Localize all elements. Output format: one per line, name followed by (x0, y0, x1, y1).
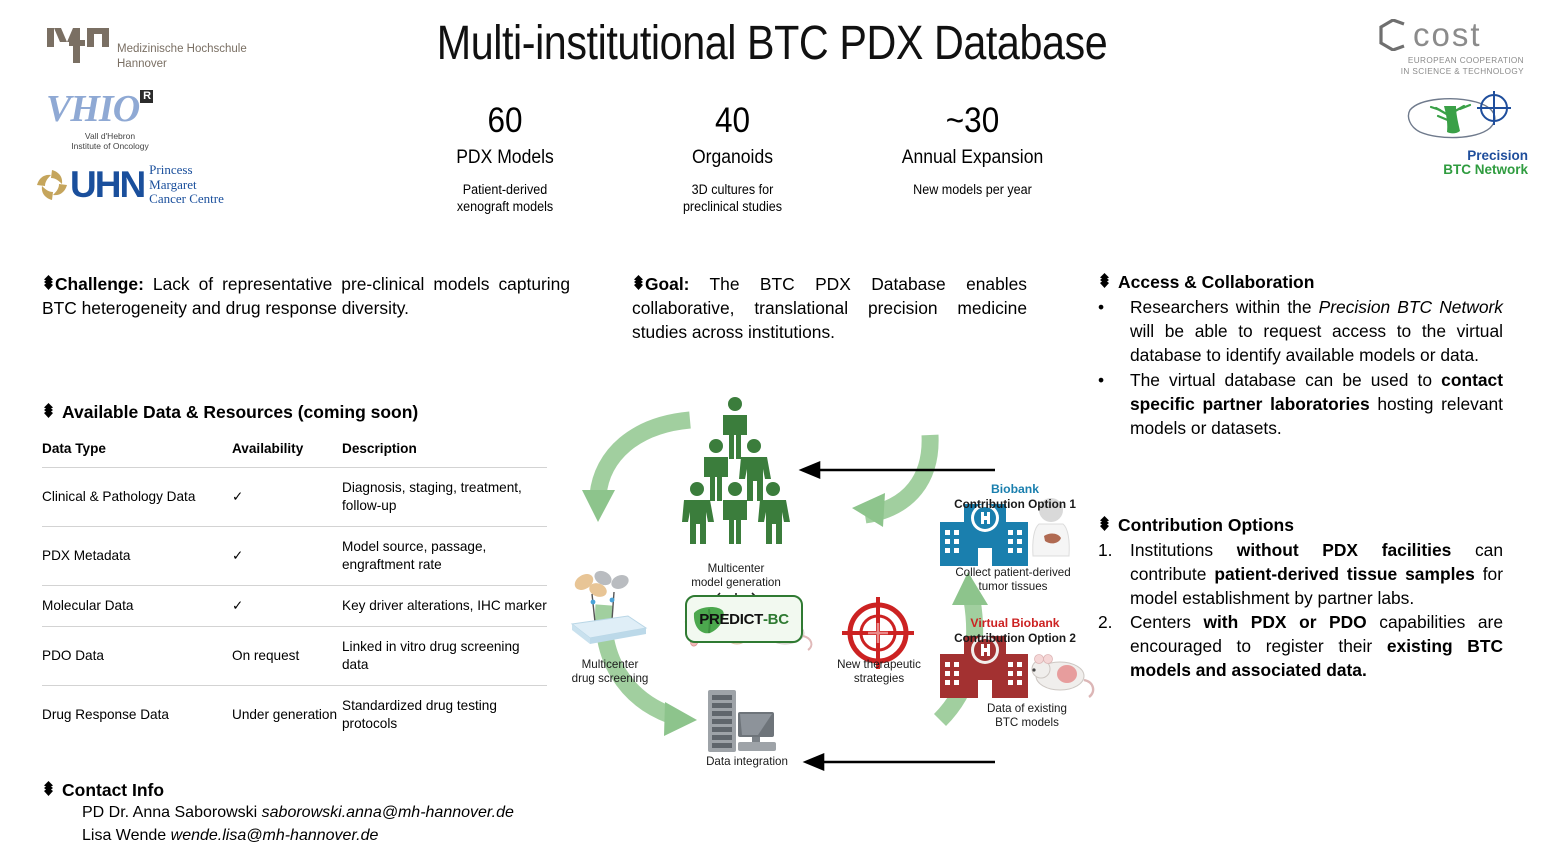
list-item-text: Researchers within the Precision BTC Net… (1130, 297, 1503, 365)
page-title: Multi-institutional BTC PDX Database (108, 16, 1436, 71)
poster-root: Medizinische Hochschule Hannover VHIOR V… (0, 0, 1544, 863)
list-item-text: Institutions without PDX facilities can … (1130, 540, 1503, 608)
cell-availability: On request (232, 626, 342, 685)
biobank-hospital-icon (940, 504, 1028, 566)
cell-description: Model source, passage, engraftment rate (342, 526, 547, 585)
virtual-biobank-title: Virtual Biobank (925, 616, 1105, 631)
list-marker: 1. (1098, 538, 1113, 562)
cell-availability: Under generation (232, 685, 342, 743)
list-item: 2. Centers with PDX or PDO capabilities … (1098, 610, 1503, 682)
table-row: Molecular Data ✓ Key driver alterations,… (42, 585, 547, 626)
cell-data-type: PDX Metadata (42, 526, 232, 585)
uhn-swirl-icon (34, 167, 70, 203)
contact-email[interactable]: saborowski.anna@mh-hannover.de (262, 804, 514, 821)
logo-uhn: UHN Princess Margaret Cancer Centre (34, 163, 249, 215)
node-label-line1: Data integration (682, 755, 812, 769)
diagram-canvas (540, 390, 1100, 810)
biobank-caption: Collect patient-derived tumor tissues (918, 566, 1108, 595)
virtual-biobank-subtitle: Contribution Option 2 (925, 631, 1105, 646)
list-item: • The virtual database can be used to co… (1098, 368, 1503, 440)
logo-uhn-mark: UHN (70, 166, 144, 203)
node-label-model-generation: Multicenter model generation (666, 562, 806, 591)
biobank-subtitle: Contribution Option 1 (925, 497, 1105, 512)
contribution-options-section: Contribution Options 1. Institutions wit… (1098, 515, 1503, 682)
table-row: Clinical & Pathology Data ✓ Diagnosis, s… (42, 468, 547, 527)
predict-bc-text-bc: -BC (763, 611, 789, 628)
table-header-row: Data Type Availability Description (42, 441, 547, 468)
available-data-heading-text: Available Data & Resources (coming soon) (62, 402, 418, 423)
table-row: PDX Metadata ✓ Model source, passage, en… (42, 526, 547, 585)
challenge-lead: Challenge: (55, 274, 144, 294)
access-collaboration-section: Access & Collaboration • Researchers wit… (1098, 272, 1503, 441)
logo-btc-text: Precision BTC Network (1398, 149, 1528, 177)
node-label-line1: New therapeutic (818, 658, 940, 672)
diamond-bullet-icon (42, 275, 55, 290)
available-data-table: Data Type Availability Description Clini… (42, 441, 547, 743)
contribution-heading: Contribution Options (1098, 515, 1503, 536)
virtual-biobank-caption-line2: BTC models (932, 716, 1122, 730)
access-heading: Access & Collaboration (1098, 272, 1503, 293)
registered-mark-icon: R (140, 90, 153, 103)
node-label-line1: Multicenter (550, 658, 670, 672)
logo-uhn-line3: Cancer Centre (149, 192, 224, 207)
stat-label: Annual Expansion (867, 146, 1079, 169)
cell-description: Key driver alterations, IHC marker (342, 585, 547, 626)
node-label-data-integration: Data integration (682, 755, 812, 769)
predict-bc-logo: PREDICT-BC (685, 595, 803, 643)
node-label-drug-screening: Multicenter drug screening (550, 658, 670, 687)
goal-lead: Goal: (645, 274, 689, 294)
contact-person: Lisa Wende wende.lisa@mh-hannover.de (82, 824, 642, 847)
logo-vhio-line2: Institute of Oncology (46, 141, 174, 151)
contact-name: PD Dr. Anna Saborowski (82, 804, 257, 821)
column-header-description: Description (342, 441, 547, 468)
contact-name: Lisa Wende (82, 827, 166, 844)
stat-card-organoids: 40 Organoids 3D cultures for preclinical… (625, 103, 840, 215)
biobank-caption-line1: Collect patient-derived (918, 566, 1108, 580)
access-heading-text: Access & Collaboration (1118, 272, 1314, 293)
mhh-monogram-icon (45, 26, 111, 68)
stat-card-pdx-models: 60 PDX Models Patient-derived xenograft … (395, 103, 615, 215)
column-header-data-type: Data Type (42, 441, 232, 468)
logo-vhio-mark: VHIOR (46, 90, 206, 128)
cell-data-type: Drug Response Data (42, 685, 232, 743)
goal-body: The BTC PDX Database enables collaborati… (632, 274, 1027, 342)
contact-email[interactable]: wende.lisa@mh-hannover.de (171, 827, 379, 844)
node-label-line1: Multicenter (666, 562, 806, 576)
list-item-text: The virtual database can be used to cont… (1130, 370, 1503, 438)
logo-btc-line2: BTC Network (1398, 163, 1528, 177)
cell-description: Linked in vitro drug screening data (342, 626, 547, 685)
table-row: PDO Data On request Linked in vitro drug… (42, 626, 547, 685)
virtual-biobank-caption-line1: Data of existing (932, 702, 1122, 716)
cell-availability: ✓ (232, 468, 342, 527)
cell-description: Standardized drug testing protocols (342, 685, 547, 743)
biobank-caption-line2: tumor tissues (918, 580, 1108, 594)
node-label-line2: drug screening (550, 672, 670, 686)
cell-data-type: PDO Data (42, 626, 232, 685)
node-label-therapeutic-strategies: New therapeutic strategies (818, 658, 940, 687)
list-item-text: Centers with PDX or PDO capabilities are… (1130, 612, 1503, 680)
predict-bc-text-predict: PREDICT (699, 611, 763, 628)
available-data-heading: Available Data & Resources (coming soon) (42, 402, 552, 423)
node-label-line2: strategies (818, 672, 940, 686)
stat-desc: Patient-derived xenograft models (403, 181, 608, 216)
logo-uhn-line1: Princess (149, 163, 224, 178)
stat-label: PDX Models (406, 146, 604, 169)
logo-precision-btc-network: Precision BTC Network (1398, 88, 1528, 170)
list-item: 1. Institutions without PDX facilities c… (1098, 538, 1503, 610)
virtual-biobank-caption: Data of existing BTC models (932, 702, 1122, 731)
cell-availability: ✓ (232, 526, 342, 585)
column-header-availability: Availability (232, 441, 342, 468)
stat-label: Organoids (636, 146, 830, 169)
stat-desc: 3D cultures for preclinical studies (633, 181, 833, 216)
logo-vhio: VHIOR Vall d'Hebron Institute of Oncolog… (46, 90, 206, 152)
liver-target-icon (1398, 88, 1528, 144)
data-integration-icon (708, 690, 776, 752)
stat-card-annual-expansion: ~30 Annual Expansion New models per year (855, 103, 1090, 198)
diamond-bullet-icon (42, 781, 55, 796)
cell-availability: ✓ (232, 585, 342, 626)
multicenter-people-icon (682, 397, 790, 544)
node-label-line2: model generation (666, 576, 806, 590)
cell-description: Diagnosis, staging, treatment, follow-up (342, 468, 547, 527)
diamond-bullet-icon (632, 275, 645, 290)
list-item: • Researchers within the Precision BTC N… (1098, 295, 1503, 367)
diamond-bullet-icon (42, 403, 55, 418)
logo-btc-line1: Precision (1398, 149, 1528, 163)
stat-desc: New models per year (863, 181, 1082, 198)
contact-heading-text: Contact Info (62, 780, 164, 801)
mouse-icon (1032, 655, 1093, 698)
diamond-bullet-icon (1098, 273, 1111, 288)
cell-data-type: Clinical & Pathology Data (42, 468, 232, 527)
challenge-block: Challenge: Lack of representative pre-cl… (42, 272, 570, 320)
predict-bc-cycle-diagram: PREDICT-BC Multicenter model generation … (540, 390, 1100, 810)
available-data-section: Available Data & Resources (coming soon)… (42, 402, 552, 743)
goal-block: Goal: The BTC PDX Database enables colla… (632, 272, 1027, 344)
stat-value: 60 (406, 103, 604, 140)
stat-value: 40 (636, 103, 830, 140)
bullet-marker: • (1098, 368, 1104, 392)
contribution-list: 1. Institutions without PDX facilities c… (1098, 538, 1503, 682)
table-row: Drug Response Data Under generation Stan… (42, 685, 547, 743)
logo-vhio-line1: Vall d'Hebron (46, 131, 174, 141)
contribution-heading-text: Contribution Options (1118, 515, 1294, 536)
logo-uhn-line2: Margaret (149, 178, 224, 193)
biobank-title: Biobank (925, 482, 1105, 497)
cell-data-type: Molecular Data (42, 585, 232, 626)
access-bullet-list: • Researchers within the Precision BTC N… (1098, 295, 1503, 440)
stat-value: ~30 (867, 103, 1079, 140)
bullet-marker: • (1098, 295, 1104, 319)
